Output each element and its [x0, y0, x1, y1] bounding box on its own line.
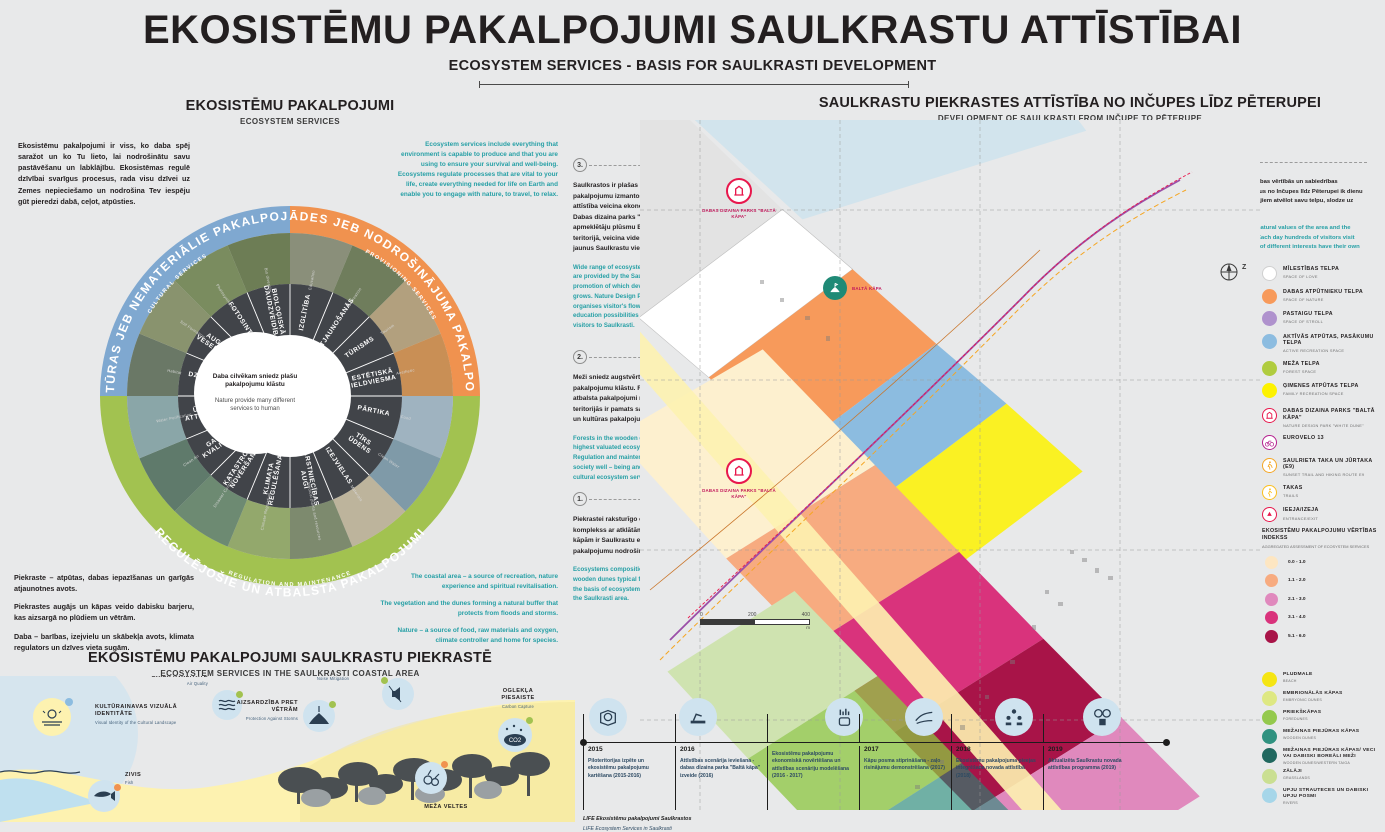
timeline-icon-bubble	[825, 698, 863, 736]
legend-biotope-swatch	[1262, 769, 1277, 784]
legend-icon-badge	[1262, 458, 1277, 473]
ecosystem-services-heading: EKOSISTĒMU PAKALPOJUMI ECOSYSTEM SERVICE…	[0, 98, 580, 126]
legend-space-text: MEŽA TELPA FOREST SPACE	[1283, 361, 1320, 374]
timeline-icon-bubble	[1083, 698, 1121, 736]
legend-biotope-text: UPJU STRAUTECES UN DABISKI UPJU POSMI RI…	[1283, 788, 1384, 805]
legend-icon-en: NATURE DESIGN PARK "WHITE DUNE"	[1283, 423, 1382, 428]
legend-space-lv: ĢIMENES ATPŪTAS TELPA	[1283, 383, 1359, 390]
legend-biotope-row[interactable]: UPJU STRAUTECES UN DABISKI UPJU POSMI RI…	[1262, 788, 1384, 805]
legend-biotope-text: PRIEKŠKĀPAS FOREDUNES	[1283, 710, 1321, 721]
legend-biotope-en: BEACH	[1283, 679, 1313, 683]
legend-space-row[interactable]: PASTAIGU TELPA SPACE OF STROLL	[1262, 311, 1382, 326]
dune-park-icon	[731, 183, 747, 199]
white-dune-icon	[828, 281, 842, 295]
legend-icon-row[interactable]: SAULRIETA TAKA UN JŪRTAKA (E9) SUNSET TR…	[1262, 458, 1382, 478]
legend-space-swatch	[1262, 334, 1277, 349]
page-subtitle: ECOSYSTEM SERVICES - BASIS FOR SAULKRAST…	[0, 58, 1385, 74]
legend-biotope-text: ZĀLĀJI GRASSLANDS	[1283, 769, 1310, 780]
timeline-item[interactable]: 2018 Ekosistēmu pakalpojuma pieejas inte…	[951, 746, 1037, 810]
legend-space-row[interactable]: MEŽA TELPA FOREST SPACE	[1262, 361, 1382, 376]
timeline-year: 2015	[588, 746, 669, 753]
timeline-text: Aktualizēta Saulkrastu novada attīstības…	[1048, 758, 1129, 773]
legend-icon-row[interactable]: IEEJA/IZEJA ENTRANCE/EXIT	[1262, 507, 1382, 522]
legend-index-row[interactable]: 0.0 - 1.0	[1262, 556, 1382, 569]
scale-tick: 0	[700, 612, 703, 618]
people-integration-icon	[1003, 706, 1025, 728]
coastal-icon-cultural: KULTŪRAINAVAS VIZUĀLĀ IDENTITĀTE Visual …	[95, 704, 183, 725]
legend-space-lv: DABAS ATPŪTNIEKU TELPA	[1283, 289, 1363, 296]
index-rows: 0.0 - 1.0 1.1 - 2.0 2.1 - 3.0 3.1 - 4.0 …	[1262, 556, 1382, 643]
legend-space-text: MĪLESTĪBAS TELPA SPACE OF LOVE	[1283, 266, 1339, 279]
legend-biotope-lv: PLUDMALE	[1283, 672, 1313, 678]
legend-icon-en: ENTRANCE/EXIT	[1283, 516, 1319, 521]
coastal-icon-label-en: Protection Against Storms	[226, 716, 298, 721]
legend-icon-text: TAKAS TRAILS	[1283, 485, 1303, 498]
legend-biotope-text: PLUDMALE BEACH	[1283, 672, 1313, 683]
legend-index-swatch	[1265, 556, 1278, 569]
map-pin-label: DABAS DIZAINA PARKS "BALTĀ KĀPA"	[694, 208, 784, 219]
legend-space-swatch	[1262, 289, 1277, 304]
timeline-year: 2019	[1048, 746, 1129, 753]
timeline-tick	[767, 714, 768, 742]
coastal-icon-carbon: OGLEKĻA PIESAISTE Carbon Capture	[486, 688, 550, 709]
es-heading-lv: EKOSISTĒMU PAKALPOJUMI	[0, 98, 580, 114]
dune-park-icon	[1264, 410, 1275, 421]
timeline-tick	[675, 714, 676, 742]
timeline-icon-bubble	[995, 698, 1033, 736]
legend-index-label: 5.1 - 6.0	[1288, 634, 1306, 639]
timeline-footer-lv: LIFE Ekosistēmu pakalpojumi Saulkrastos	[583, 816, 691, 822]
legend-icon-row[interactable]: EUROVELO 13	[1262, 435, 1382, 450]
dune-shield-icon	[303, 700, 335, 732]
legend-space-swatch	[1262, 383, 1277, 398]
entrance-icon	[1264, 509, 1275, 520]
dune-restore-icon	[913, 706, 935, 728]
timeline-item[interactable]: Ekosistēmu pakalpojumu ekonomiskā novērt…	[767, 746, 853, 810]
es-heading-en: ECOSYSTEM SERVICES	[0, 117, 580, 126]
legend-biotope-row[interactable]: ZĀLĀJI GRASSLANDS	[1262, 769, 1384, 784]
legend-index-swatch	[1265, 593, 1278, 606]
legend-space-lv: PASTAIGU TELPA	[1283, 311, 1333, 318]
legend-space-row[interactable]: AKTĪVĀS ATPŪTAS, PASĀKUMU TELPA ACTIVE R…	[1262, 334, 1382, 354]
timeline-icon-bubble	[589, 698, 627, 736]
coastal-icon-label-lv: AIZSARDZĪBA PRET VĒTRĀM	[226, 700, 298, 715]
coastal-note-lv: Daba – barības, izejvielu un skābekļa av…	[14, 631, 194, 653]
legend-icon-badge	[1262, 507, 1277, 522]
coastal-icon-storm: AIZSARDZĪBA PRET VĒTRĀM Protection Again…	[226, 700, 298, 721]
coastal-note-en: Nature – a source of food, raw materials…	[378, 626, 558, 646]
coastal-icon-fish: ZIVIS Fish	[125, 772, 165, 785]
coastal-icon-label-en: Carbon Capture	[486, 704, 550, 709]
legend-biotopes: PLUDMALE BEACH EMBRIONĀLĀS KĀPAS EMBRYON…	[1262, 672, 1384, 809]
legend-icon-row[interactable]: DABAS DIZAINA PARKS "BALTĀ KĀPA" NATURE …	[1262, 408, 1382, 428]
legend-index-row[interactable]: 1.1 - 2.0	[1262, 574, 1382, 587]
scale-tick: 200	[748, 612, 756, 618]
legend-icon-badge	[1262, 408, 1277, 423]
legend-space-lv: AKTĪVĀS ATPŪTAS, PASĀKUMU TELPA	[1283, 334, 1382, 347]
legend-icon-badge	[1262, 435, 1277, 450]
legend-index-swatch	[1265, 574, 1278, 587]
coastal-icon-label-en: Fish	[125, 780, 165, 785]
legend-biotope-row[interactable]: PRIEKŠKĀPAS FOREDUNES	[1262, 710, 1384, 725]
legend-biotope-swatch	[1262, 729, 1277, 744]
timeline-text: Piloteritorijas izpēte un ekosistēmu pak…	[588, 758, 669, 780]
legend-icon-lv: SAULRIETA TAKA UN JŪRTAKA (E9)	[1283, 458, 1382, 471]
map-search-icon	[597, 706, 619, 728]
map-pin-label: DABAS DIZAINA PARKS "BALTĀ KĀPA"	[694, 488, 784, 499]
legend-biotope-lv: EMBRIONĀLĀS KĀPAS	[1283, 691, 1343, 697]
coastal-icon-label-lv: KULTŪRAINAVAS VIZUĀLĀ IDENTITĀTE	[95, 704, 183, 719]
timeline-year: 2017	[864, 746, 945, 753]
legend-space-en: SPACE OF NATURE	[1283, 297, 1363, 302]
callout-3-number: 3.	[573, 158, 587, 172]
wheel-hub-lv: Daba cilvēkam sniedz plašu pakalpojumu k…	[206, 373, 304, 390]
legend-space-swatch	[1262, 361, 1277, 376]
legend-space-en: FOREST SPACE	[1283, 369, 1320, 374]
legend-index-label: 0.0 - 1.0	[1288, 560, 1306, 565]
timeline-icon-bubble	[679, 698, 717, 736]
legend-biotope-row[interactable]: MEŽAINAS PIEJŪRAS KĀPAS/ VECI VAI DABISK…	[1262, 748, 1384, 765]
legend-biotope-row[interactable]: MEŽAINAS PIEJŪRAS KĀPAS WOODEN DUNES	[1262, 729, 1384, 744]
program-icon	[1091, 706, 1113, 728]
legend-biotope-en: GRASSLANDS	[1283, 776, 1310, 780]
legend-biotope-text: MEŽAINAS PIEJŪRAS KĀPAS WOODEN DUNES	[1283, 729, 1359, 740]
legend-space-en: SPACE OF STROLL	[1283, 319, 1333, 324]
coastal-icon-label-lv: MEŽA VELTES	[418, 804, 474, 811]
legend-biotope-lv: MEŽAINAS PIEJŪRAS KĀPAS	[1283, 729, 1359, 735]
timeline-year: 2018	[956, 746, 1037, 753]
coastal-illustration: KULTŪRAINAVAS VIZUĀLĀ IDENTITĀTE Visual …	[0, 676, 575, 822]
legend-spaces: MĪLESTĪBAS TELPA SPACE OF LOVE DABAS ATP…	[1262, 266, 1382, 406]
callout-2-number: 2.	[573, 350, 587, 364]
timeline-tick	[951, 714, 952, 742]
map-scale-bar: 0 200 400 m	[700, 612, 810, 630]
wheel-hub: Daba cilvēkam sniedz plašu pakalpojumu k…	[194, 332, 316, 454]
legend-biotope-lv: PRIEKŠKĀPAS	[1283, 710, 1321, 716]
timeline-item[interactable]: 2015 Piloteritorijas izpēte un ekosistēm…	[583, 746, 669, 810]
legend-route-icons: DABAS DIZAINA PARKS "BALTĀ KĀPA" NATURE …	[1262, 408, 1382, 530]
scale-ticks: 0 200 400	[700, 612, 810, 618]
legend-icon-badge	[1262, 485, 1277, 500]
index-title-lv: EKOSISTĒMU PAKALPOJUMU VĒRTĪBAS INDEKSS	[1262, 528, 1382, 542]
timeline-tick	[859, 714, 860, 742]
legend-space-lv: MĪLESTĪBAS TELPA	[1283, 266, 1339, 273]
legend-index-swatch	[1265, 630, 1278, 643]
title-divider	[479, 84, 909, 85]
fish-icon	[88, 780, 120, 812]
coastal-icon-label-lv: GAISA KVALITĀTE	[138, 676, 208, 680]
timeline-text: Kāpu posma stiprināšana - zaļo risinājum…	[864, 758, 945, 773]
coastal-icon-forest-gifts: MEŽA VELTES	[418, 804, 474, 811]
legend-space-en: FAMILY RECREATION SPACE	[1283, 391, 1359, 396]
timeline-footer-en: LIFE Ecosystem Services in Saulkrasti	[583, 826, 672, 832]
legend-biotope-text: EMBRIONĀLĀS KĀPAS EMBRYONIC DUNES	[1283, 691, 1343, 702]
legend-biotope-lv: ZĀLĀJI	[1283, 769, 1310, 775]
timeline-text: Ekosistēmu pakalpojumu ekonomiskā novērt…	[772, 751, 853, 781]
hiker-icon	[1264, 460, 1275, 471]
legend-space-text: DABAS ATPŪTNIEKU TELPA SPACE OF NATURE	[1283, 289, 1363, 302]
timeline-text: Attīstības scenārija ieviešana - dabas d…	[680, 758, 761, 780]
timeline-item[interactable]: 2016 Attīstības scenārija ieviešana - da…	[675, 746, 761, 810]
coastal-icon-air: GAISA KVALITĀTE Air Quality	[138, 676, 208, 686]
timeline-icon-bubble	[905, 698, 943, 736]
legend-biotope-swatch	[1262, 672, 1277, 687]
legend-space-lv: MEŽA TELPA	[1283, 361, 1320, 368]
page-title: EKOSISTĒMU PAKALPOJUMI SAULKRASTU ATTĪST…	[0, 8, 1385, 53]
legend-index-row[interactable]: 3.1 - 4.0	[1262, 611, 1382, 624]
legend-ecosystem-index: EKOSISTĒMU PAKALPOJUMU VĒRTĪBAS INDEKSS …	[1262, 528, 1382, 648]
coastal-icon-noise: TROKŠŅU MAZINĀŠANA Noise Mitigation	[290, 676, 376, 681]
legend-biotope-swatch	[1262, 788, 1277, 803]
legend-biotope-swatch	[1262, 710, 1277, 725]
scale-tick: 400	[802, 612, 810, 618]
legend-space-row[interactable]: MĪLESTĪBAS TELPA SPACE OF LOVE	[1262, 266, 1382, 281]
map-heading-lv: SAULKRASTU PIEKRASTES ATTĪSTĪBA NO INČUP…	[760, 95, 1380, 111]
map-pin-white-dune[interactable]	[823, 276, 847, 300]
timeline-end-dot	[1163, 739, 1170, 746]
timeline-year: 2016	[680, 746, 761, 753]
legend-icon-lv: EUROVELO 13	[1283, 435, 1324, 442]
legend-index-row[interactable]: 2.1 - 3.0	[1262, 593, 1382, 606]
legend-space-text: PASTAIGU TELPA SPACE OF STROLL	[1283, 311, 1333, 324]
timeline-text: Ekosistēmu pakalpojuma pieejas integrēša…	[956, 758, 1037, 780]
coastal-icon-label-en: Visual Identity of the Cultural Landscap…	[95, 720, 183, 725]
legend-icon-lv: IEEJA/IZEJA	[1283, 507, 1319, 514]
coastal-icon-label-lv: OGLEKĻA PIESAISTE	[486, 688, 550, 703]
legend-biotope-en: EMBRYONIC DUNES	[1283, 698, 1343, 702]
legend-icon-text: DABAS DIZAINA PARKS "BALTĀ KĀPA" NATURE …	[1283, 408, 1382, 428]
noise-icon	[382, 678, 414, 710]
legend-icon-lv: DABAS DIZAINA PARKS "BALTĀ KĀPA"	[1283, 408, 1382, 421]
legend-space-swatch	[1262, 266, 1277, 281]
coastal-icon-label-en: Noise Mitigation	[290, 676, 376, 681]
legend-icon-lv: TAKAS	[1283, 485, 1303, 492]
legend-icon-row[interactable]: TAKAS TRAILS	[1262, 485, 1382, 500]
legend-icon-text: EUROVELO 13	[1283, 435, 1324, 442]
legend-index-label: 3.1 - 4.0	[1288, 615, 1306, 620]
legend-biotope-en: RIVERS	[1283, 801, 1384, 805]
legend-biotope-en: WOODEN DUNES/WESTERN TAIGA	[1283, 761, 1384, 765]
dune-park-icon	[731, 463, 747, 479]
timeline-item[interactable]: 2019 Aktualizēta Saulkrastu novada attīs…	[1043, 746, 1129, 810]
legend-index-label: 1.1 - 2.0	[1288, 578, 1306, 583]
legend-biotope-lv: MEŽAINAS PIEJŪRAS KĀPAS/ VECI VAI DABISK…	[1283, 748, 1384, 760]
legend-biotope-row[interactable]: EMBRIONĀLĀS KĀPAS EMBRYONIC DUNES	[1262, 691, 1384, 706]
legend-space-en: SPACE OF LOVE	[1283, 274, 1339, 279]
legend-index-row[interactable]: 5.1 - 6.0	[1262, 630, 1382, 643]
legend-index-swatch	[1265, 611, 1278, 624]
sunset-icon	[33, 698, 71, 736]
legend-space-swatch	[1262, 311, 1277, 326]
coastal-icon-label-lv: ZIVIS	[125, 772, 165, 779]
timeline-tick	[1043, 714, 1044, 742]
map-pin-dune-park-south[interactable]	[726, 458, 752, 484]
svg-text:CO2: CO2	[509, 738, 522, 744]
legend-biotope-en: FOREDUNES	[1283, 717, 1321, 721]
co2-icon: CO2	[498, 718, 532, 752]
berries-icon	[415, 762, 447, 794]
legend-space-en: ACTIVE RECREATION SPACE	[1283, 348, 1382, 353]
construction-icon	[687, 706, 709, 728]
callout-1-number: 1.	[573, 492, 587, 506]
bicycle-icon	[1264, 437, 1275, 448]
legend-biotope-swatch	[1262, 691, 1277, 706]
legend-biotope-swatch	[1262, 748, 1277, 763]
legend-biotope-text: MEŽAINAS PIEJŪRAS KĀPAS/ VECI VAI DABISK…	[1283, 748, 1384, 765]
chart-barrel-icon	[833, 706, 855, 728]
index-title-en: AGGREGATED ASSESSMENT OF ECOSYSTEM SERVI…	[1262, 544, 1382, 549]
wheel-hub-en: Nature provide many different services t…	[206, 397, 304, 413]
map-pin-label: BALTĀ KĀPA	[852, 286, 912, 292]
project-timeline: 2015 Piloteritorijas izpēte un ekosistēm…	[575, 700, 1255, 822]
compass-rose: Z	[1218, 262, 1252, 282]
timeline-tick	[583, 714, 584, 742]
legend-space-text: AKTĪVĀS ATPŪTAS, PASĀKUMU TELPA ACTIVE R…	[1283, 334, 1382, 354]
legend-icon-en: SUNSET TRAIL AND HIKING ROUTE E9	[1283, 472, 1382, 477]
timeline-axis	[583, 742, 1167, 743]
map-pin-dune-park-north[interactable]	[726, 178, 752, 204]
compass-north-letter: Z	[1242, 264, 1246, 271]
scale-unit: m	[700, 625, 810, 630]
legend-space-row[interactable]: ĢIMENES ATPŪTAS TELPA FAMILY RECREATION …	[1262, 383, 1382, 398]
legend-icon-text: SAULRIETA TAKA UN JŪRTAKA (E9) SUNSET TR…	[1283, 458, 1382, 478]
legend-index-label: 2.1 - 3.0	[1288, 597, 1306, 602]
legend-icon-text: IEEJA/IZEJA ENTRANCE/EXIT	[1283, 507, 1319, 520]
legend-biotope-row[interactable]: PLUDMALE BEACH	[1262, 672, 1384, 687]
legend-space-text: ĢIMENES ATPŪTAS TELPA FAMILY RECREATION …	[1283, 383, 1359, 396]
coastal-icon-label-en: Air Quality	[138, 681, 208, 686]
legend-icon-en: TRAILS	[1283, 493, 1303, 498]
legend-biotope-lv: UPJU STRAUTECES UN DABISKI UPJU POSMI	[1283, 788, 1384, 800]
timeline-item[interactable]: 2017 Kāpu posma stiprināšana - zaļo risi…	[859, 746, 945, 810]
legend-biotope-en: WOODEN DUNES	[1283, 736, 1359, 740]
walking-icon	[1264, 487, 1275, 498]
legend-space-row[interactable]: DABAS ATPŪTNIEKU TELPA SPACE OF NATURE	[1262, 289, 1382, 304]
map-heading: SAULKRASTU PIEKRASTES ATTĪSTĪBA NO INČUP…	[760, 95, 1380, 123]
